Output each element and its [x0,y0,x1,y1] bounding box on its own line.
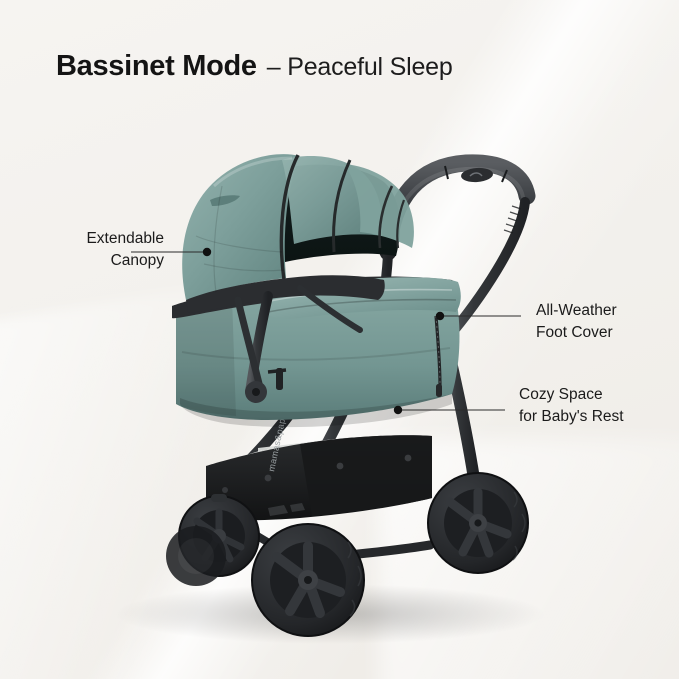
callout-line-2: Foot Cover [536,322,617,344]
callout-line-2: Canopy [46,250,164,272]
title-subtitle: – Peaceful Sleep [267,53,453,81]
rear-wheel [428,473,528,573]
title-main: Bassinet Mode [56,50,257,82]
front-wheel [252,524,364,636]
callout-all-weather-foot-cover: All-Weather Foot Cover [536,300,617,345]
rear-wheel-far [166,526,226,586]
callout-line-2: for Baby's Rest [519,406,624,428]
image-canvas: mamas&papas [0,0,679,679]
page-title: Bassinet Mode– Peaceful Sleep [56,52,453,81]
callout-cozy-space: Cozy Space for Baby's Rest [519,384,624,429]
callout-extendable-canopy: Extendable Canopy [46,228,164,273]
callout-line-1: Extendable [46,228,164,250]
callout-line-1: All-Weather [536,300,617,322]
callout-line-1: Cozy Space [519,384,624,406]
